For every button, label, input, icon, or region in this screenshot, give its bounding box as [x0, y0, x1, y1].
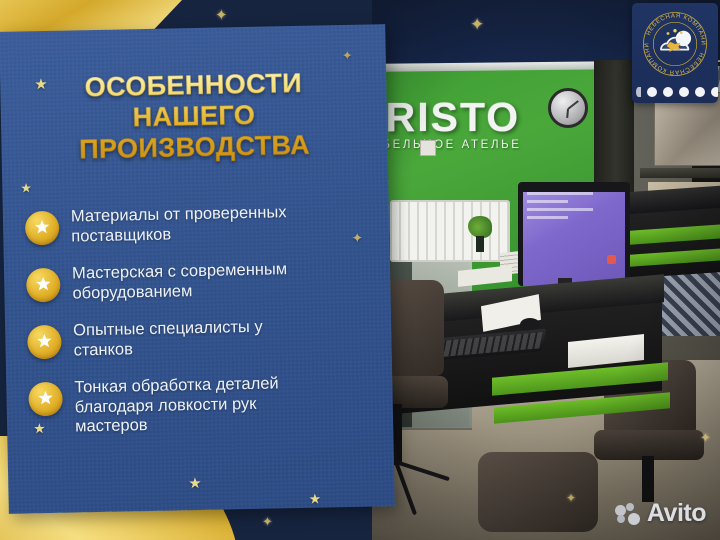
list-item-label: Материалы от проверенных поставщиков [71, 202, 312, 247]
sparkle-star-icon: ✦ [700, 431, 711, 444]
photo-office-chair-front [468, 452, 618, 540]
list-item-label: Тонкая обработка деталей благодаря ловко… [74, 373, 315, 437]
wall-clock [548, 88, 588, 128]
title-line-3: ПРОИЗВОДСТВА [21, 129, 368, 167]
decor-star-icon: ★ [308, 492, 321, 506]
badge-dot-row [636, 87, 718, 97]
wall-outlet [420, 140, 436, 156]
company-logo-badge[interactable]: НЕБЕСНАЯ КОМПАНИЯ НЕБЕСНАЯ КОМПАНИЯ [632, 3, 718, 103]
feature-list: Материалы от проверенных поставщиков Мас… [25, 200, 380, 454]
star-icon [27, 325, 62, 360]
list-item-label: Опытные специалисты у станков [73, 316, 314, 361]
brand-subtitle: МЕБЕЛЬНОЕ АТЕЛЬЕ [372, 139, 598, 151]
list-item: Материалы от проверенных поставщиков [25, 200, 376, 247]
decor-star-icon: ★ [20, 181, 32, 194]
star-icon [26, 268, 61, 303]
sparkle-star-icon: ✦ [566, 492, 576, 504]
photo-monitor [518, 182, 630, 286]
sparkle-star-icon: ✦ [262, 515, 273, 528]
sparkle-star-icon: ✦ [470, 16, 484, 33]
photo-shelf-board-1 [640, 168, 720, 178]
star-icon [25, 211, 60, 246]
list-item-label: Мастерская с современным оборудованием [72, 259, 313, 304]
list-item: Тонкая обработка деталей благодаря ловко… [28, 371, 379, 438]
sparkle-star-icon: ✦ [215, 8, 228, 23]
photo-monitor-screen [523, 192, 625, 286]
list-item: Опытные специалисты у станков [27, 314, 378, 361]
photo-plant [468, 216, 494, 252]
page-title: ОСОБЕННОСТИ НАШЕГО ПРОИЗВОДСТВА [0, 66, 388, 167]
list-item: Мастерская с современным оборудованием [26, 257, 377, 304]
decor-star-icon: ✦ [342, 49, 353, 62]
avito-label: Avito [647, 501, 706, 526]
avito-watermark: Avito [615, 501, 706, 526]
star-icon [28, 382, 63, 417]
features-panel: ★ ✦ ★ ✦ ★ ★ ★ ОСОБЕННОСТИ НАШЕГО ПРОИЗВО… [0, 24, 395, 514]
avito-logo-icon [615, 503, 642, 525]
poster-canvas: ARISTO МЕБЕЛЬНОЕ АТЕЛЬЕ [0, 0, 720, 540]
decor-star-icon: ★ [188, 476, 202, 491]
photo-fabric-sample-1 [654, 92, 720, 166]
cloud-moon-stars-icon: НЕБЕСНАЯ КОМПАНИЯ НЕБЕСНАЯ КОМПАНИЯ [640, 9, 710, 79]
